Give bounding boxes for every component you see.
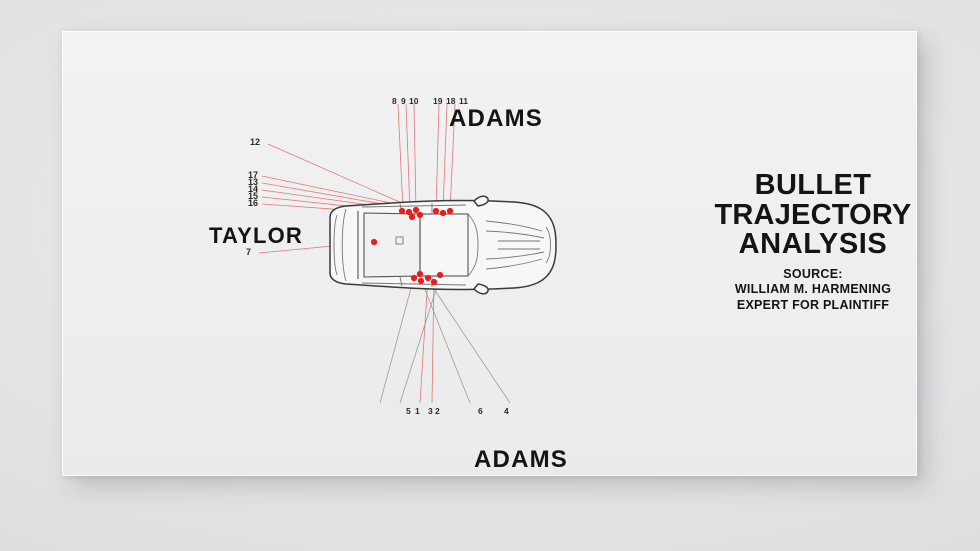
callout-5: 5 xyxy=(406,406,411,416)
callout-12: 12 xyxy=(250,137,260,147)
callout-1: 1 xyxy=(415,406,420,416)
callout-3: 3 xyxy=(428,406,433,416)
slide-panel: .traj{stroke:#e07070;stroke-width:.8;fil… xyxy=(62,31,917,476)
title-line-2: TRAJECTORY xyxy=(679,201,947,231)
title-line-1: BULLET xyxy=(679,171,947,201)
callout-2: 2 xyxy=(435,406,440,416)
source-credit: SOURCE: WILLIAM M. HARMENING EXPERT FOR … xyxy=(674,267,952,313)
callout-6: 6 xyxy=(478,406,483,416)
callout-7: 7 xyxy=(246,247,251,257)
callout-10: 10 xyxy=(409,96,418,106)
callout-8: 8 xyxy=(392,96,397,106)
callout-19: 19 xyxy=(433,96,442,106)
trajectory-lines-bottom xyxy=(380,277,510,403)
source-line-1: SOURCE: xyxy=(674,267,952,282)
callout-4: 4 xyxy=(504,406,509,416)
callout-11: 11 xyxy=(459,96,468,106)
screenshot-root: .traj{stroke:#e07070;stroke-width:.8;fil… xyxy=(0,0,980,551)
label-adams-bottom: ADAMS xyxy=(474,446,568,474)
impact-point-interior xyxy=(371,239,377,245)
callout-16: 16 xyxy=(248,198,258,208)
label-adams-top: ADAMS xyxy=(449,105,543,133)
callout-9: 9 xyxy=(401,96,406,106)
trajectory-lines-top xyxy=(398,104,455,211)
page-title: BULLET TRAJECTORY ANALYSIS xyxy=(679,171,947,260)
source-line-3: EXPERT FOR PLAINTIFF xyxy=(674,298,952,313)
callout-18: 18 xyxy=(446,96,455,106)
title-line-3: ANALYSIS xyxy=(679,230,947,260)
label-taylor: TAYLOR xyxy=(209,223,303,249)
source-line-2: WILLIAM M. HARMENING xyxy=(674,282,952,297)
